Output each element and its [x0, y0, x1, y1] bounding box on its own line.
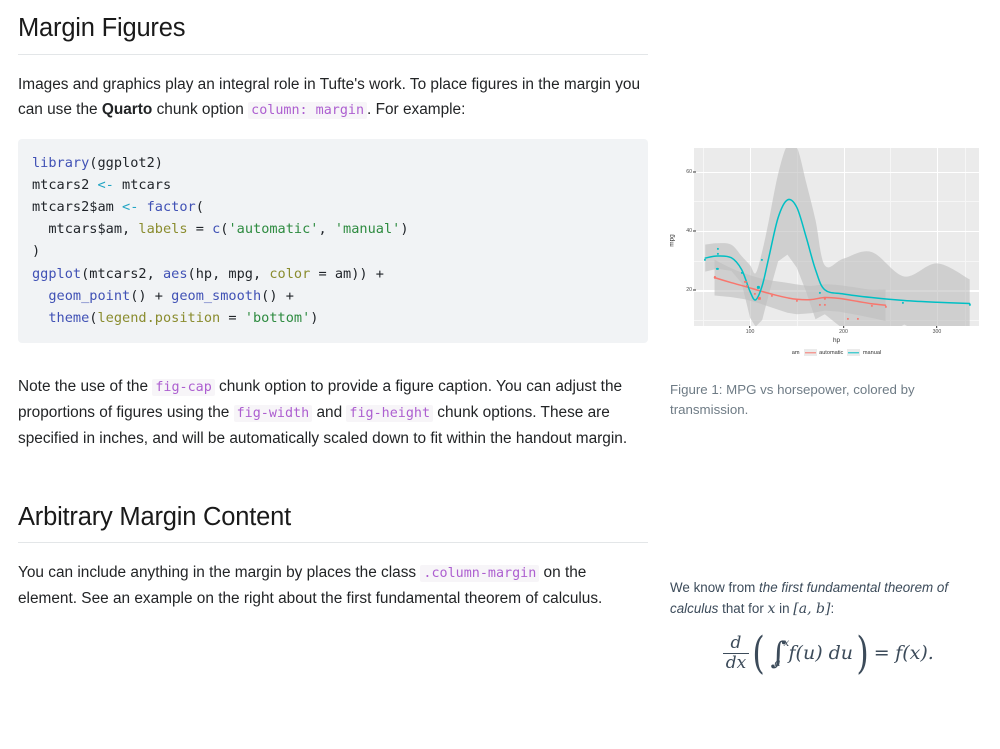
code-token: (hp, mpg,	[188, 266, 270, 282]
code-token: mtcars2	[32, 177, 97, 193]
code-token: 'manual'	[335, 221, 400, 237]
paragraph-arbitrary-margin-content: You can include anything in the margin b…	[18, 543, 648, 611]
legend-item-manual: manual	[847, 349, 881, 356]
code-token: mtcars$am,	[32, 221, 138, 237]
legend-key-icon	[804, 349, 817, 356]
math-interval-ab: [a, b]	[793, 601, 830, 617]
text-fragment: that for	[718, 601, 767, 616]
equals-sign: =	[870, 644, 894, 663]
code-token: 'bottom'	[245, 310, 310, 326]
inline-code-fig-height: fig-height	[346, 405, 433, 422]
margin-note-calculus: We know from the first fundamental theor…	[670, 578, 986, 619]
code-block-r: library(ggplot2) mtcars2 <- mtcars mtcar…	[18, 139, 648, 344]
text-fragment: in	[775, 601, 793, 616]
paragraph-margin-figures-intro: Images and graphics play an integral rol…	[18, 55, 648, 123]
code-token: labels	[138, 221, 187, 237]
text-fragment: You can include anything in the margin b…	[18, 564, 420, 581]
code-token: )	[32, 243, 40, 259]
text-fragment: and	[312, 404, 346, 421]
code-token: mtcars	[114, 177, 171, 193]
code-token: (ggplot2)	[89, 155, 163, 171]
legend-item-automatic: automatic	[804, 349, 844, 356]
code-token: () +	[261, 288, 294, 304]
text-fragment: chunk option	[152, 101, 248, 118]
code-token	[32, 288, 48, 304]
code-token: )	[400, 221, 408, 237]
code-token: geom_smooth	[171, 288, 261, 304]
legend-label: manual	[863, 350, 881, 356]
text-fragment: We know from	[670, 580, 759, 595]
code-token: factor	[147, 199, 196, 215]
right-paren-icon: )	[856, 636, 868, 671]
code-token: theme	[48, 310, 89, 326]
math-equation: d dx ( ∫xa f(u) du ) = f(x).	[721, 635, 936, 672]
text-fragment: :	[830, 601, 834, 616]
code-token: (	[196, 199, 204, 215]
y-axis-tick-label: 60	[686, 169, 692, 175]
code-token: mtcars2$am	[32, 199, 122, 215]
plot-legend: am automatic manual	[694, 349, 979, 356]
ggplot-mpg-vs-hp: 204060100200300 hp mpg am automatic manu…	[670, 143, 979, 369]
plot-geometry	[694, 148, 979, 326]
code-token: =	[220, 310, 245, 326]
code-token: <-	[97, 177, 113, 193]
code-token: )	[310, 310, 318, 326]
code-token: () +	[130, 288, 171, 304]
code-token: 'automatic'	[228, 221, 318, 237]
integral-lower-limit: a	[774, 659, 780, 668]
code-token: <-	[122, 199, 138, 215]
y-axis-tick-label: 20	[686, 287, 692, 293]
integrand: f(u) du	[787, 644, 855, 663]
integral-upper-limit: x	[783, 639, 789, 648]
y-axis-label: mpg	[669, 234, 676, 246]
x-axis-label: hp	[694, 337, 979, 344]
code-token: (mtcars2,	[81, 266, 163, 282]
text-fragment: Note the use of the	[18, 378, 152, 395]
code-token: ggplot	[32, 266, 81, 282]
code-token	[32, 310, 48, 326]
code-token: color	[269, 266, 310, 282]
margin-column: 204060100200300 hp mpg am automatic manu…	[670, 0, 986, 672]
x-axis-tick-label: 200	[839, 329, 848, 335]
tufte-handout-page: Margin Figures Images and graphics play …	[0, 0, 1000, 749]
main-content-column: Margin Figures Images and graphics play …	[18, 0, 648, 611]
code-token: = am)) +	[310, 266, 384, 282]
code-token: ,	[318, 221, 334, 237]
page-title: Margin Figures	[18, 0, 648, 44]
math-display-ftc: d dx ( ∫xa f(u) du ) = f(x).	[670, 619, 986, 672]
code-token	[138, 199, 146, 215]
text-fragment: . For example:	[367, 101, 465, 118]
code-token: library	[32, 155, 89, 171]
x-axis-tick-label: 300	[933, 329, 942, 335]
inline-code-fig-cap: fig-cap	[152, 379, 214, 396]
left-paren-icon: (	[753, 636, 765, 671]
legend-title: am	[792, 350, 800, 356]
plot-panel	[694, 148, 979, 326]
legend-label: automatic	[819, 350, 843, 356]
figure-caption: Figure 1: MPG vs horsepower, colored by …	[670, 369, 986, 420]
section-title-arbitrary-margin-content: Arbitrary Margin Content	[18, 489, 648, 533]
fraction-numerator: d	[728, 635, 745, 653]
math-rhs: f(x).	[894, 644, 936, 663]
fraction-denominator: dx	[723, 654, 749, 672]
legend-key-icon	[847, 349, 860, 356]
code-token: aes	[163, 266, 188, 282]
margin-figure-1: 204060100200300 hp mpg am automatic manu…	[670, 143, 986, 420]
y-axis-tick-label: 40	[686, 228, 692, 234]
math-fraction-d-dx: d dx	[723, 635, 749, 672]
x-axis-tick-label: 100	[746, 329, 755, 335]
code-token: =	[188, 221, 213, 237]
code-token: geom_point	[48, 288, 130, 304]
inline-code-column-margin: column: margin	[248, 102, 367, 119]
inline-code-column-margin-class: .column-margin	[420, 565, 539, 582]
paragraph-fig-cap-notes: Note the use of the fig-cap chunk option…	[18, 357, 648, 451]
inline-code-fig-width: fig-width	[234, 405, 313, 422]
bold-quarto: Quarto	[102, 101, 152, 118]
code-token: legend.position	[97, 310, 220, 326]
integral-sign-icon: ∫xa	[770, 641, 786, 667]
